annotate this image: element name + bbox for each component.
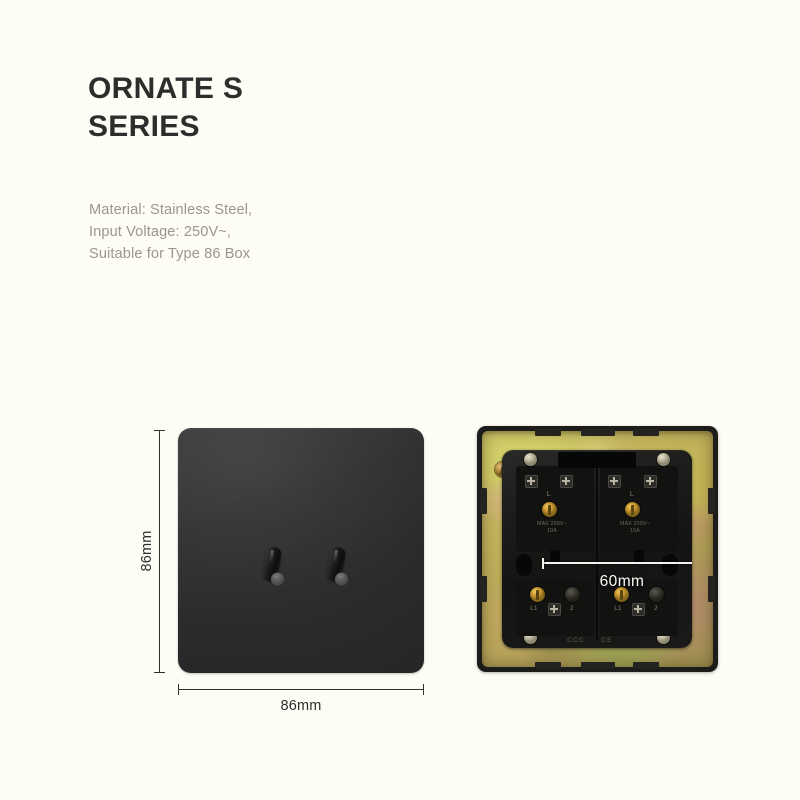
- toggle-lever-2-tip: [334, 572, 349, 587]
- dim-60mm-cap-left: [542, 558, 544, 569]
- frame-tab-bottom-right: [633, 662, 659, 669]
- screw-square-1[interactable]: [525, 475, 538, 488]
- screw-square-5[interactable]: [548, 603, 561, 616]
- title-block: ORNATE S SERIES: [88, 70, 508, 147]
- frame-tab-bottom-left: [535, 662, 561, 669]
- dim-horizontal-cap-left: [178, 684, 179, 695]
- dim-horizontal-cap-right: [423, 684, 424, 695]
- mech-slot-left: [516, 554, 532, 576]
- page-title: ORNATE S SERIES: [88, 70, 508, 147]
- label-terminal-L-left: L: [539, 491, 559, 499]
- toggle-lever-1[interactable]: [266, 547, 283, 587]
- switch-mechanism-body: L L MAX 250V~ 10A MAX 250V~ 10A: [502, 450, 692, 648]
- label-terminal-L1-left: L1: [526, 605, 542, 612]
- label-terminal-L1-right: L1: [610, 605, 626, 612]
- dim-60mm-group: 60mm: [542, 562, 692, 602]
- frame-tab-top-mid: [581, 429, 615, 436]
- label-rating-right-line2: 10A: [606, 529, 664, 535]
- frame-tab-top-right: [633, 429, 659, 436]
- front-view-group: 86mm 86mm: [134, 414, 464, 734]
- mech-boss-top-right: [657, 453, 670, 466]
- spec-line-voltage: Input Voltage: 250V~,: [89, 221, 509, 243]
- dim-vertical-cap-top: [154, 430, 165, 431]
- cert-ccc-mark: CCC: [564, 637, 588, 644]
- label-rating-left-line2: 10A: [523, 529, 581, 535]
- spec-line-material: Material: Stainless Steel,: [89, 199, 509, 221]
- toggle-lever-1-tip: [270, 572, 285, 587]
- frame-tab-left-upper: [480, 488, 487, 514]
- label-terminal-2-left: 2: [564, 605, 580, 612]
- screw-square-2[interactable]: [560, 475, 573, 488]
- dim-60mm-label: 60mm: [542, 573, 692, 591]
- frame-tab-bottom-mid: [581, 662, 615, 669]
- dim-horizontal-line: [178, 689, 424, 690]
- frame-tab-left-lower: [480, 576, 487, 602]
- plate-sheen: [178, 428, 424, 673]
- screw-square-6[interactable]: [632, 603, 645, 616]
- terminal-live-left[interactable]: [542, 502, 557, 517]
- cert-ce-mark: CE: [597, 637, 617, 644]
- back-view-group: L L MAX 250V~ 10A MAX 250V~ 10A: [477, 426, 721, 676]
- frame-tab-right-lower: [708, 576, 715, 602]
- dim-vertical-line: [159, 430, 160, 672]
- switch-plate: [178, 428, 424, 673]
- mounting-frame: L L MAX 250V~ 10A MAX 250V~ 10A: [477, 426, 718, 672]
- mech-boss-top-left: [524, 453, 537, 466]
- spec-line-box-type: Suitable for Type 86 Box: [89, 243, 509, 265]
- screw-square-4[interactable]: [644, 475, 657, 488]
- toggle-lever-2[interactable]: [330, 547, 347, 587]
- dim-vertical-cap-bottom: [154, 672, 165, 673]
- product-image-canvas: ORNATE S SERIES Material: Stainless Stee…: [0, 0, 800, 800]
- frame-tab-right-upper: [708, 488, 715, 514]
- label-terminal-2-right: 2: [648, 605, 664, 612]
- mech-center-divider: [596, 460, 598, 640]
- dim-label-width: 86mm: [178, 698, 424, 714]
- dim-60mm-line: [542, 562, 692, 564]
- spec-block: Material: Stainless Steel, Input Voltage…: [89, 199, 509, 266]
- terminal-live-right[interactable]: [625, 502, 640, 517]
- screw-square-3[interactable]: [608, 475, 621, 488]
- mech-top-slot: [558, 452, 636, 468]
- label-terminal-L-right: L: [622, 491, 642, 499]
- frame-tab-top-left: [535, 429, 561, 436]
- dim-label-height: 86mm: [139, 521, 155, 581]
